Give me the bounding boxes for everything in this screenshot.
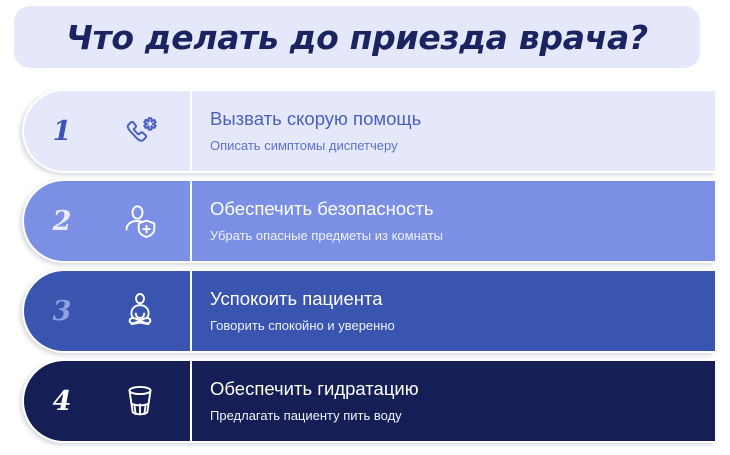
step-number: 1 <box>24 118 100 145</box>
steps-list: 1 Вызвать скорую помощь Описать симптомы… <box>0 84 730 455</box>
header-banner: Что делать до приезда врача? <box>14 6 700 68</box>
infographic-canvas: Что делать до приезда врача? 1 Вызвать с… <box>0 0 730 455</box>
step-left-panel: 4 <box>24 361 190 441</box>
step-row[interactable]: 3 Успокоить пациента Говорить спокойно и… <box>22 269 715 353</box>
step-text-panel: Вызвать скорую помощь Описать симптомы д… <box>192 91 715 171</box>
step-title: Успокоить пациента <box>210 288 699 309</box>
step-subtitle: Говорить спокойно и уверенно <box>210 319 699 334</box>
step-number: 2 <box>24 208 100 235</box>
step-text-panel: Обеспечить безопасность Убрать опасные п… <box>192 181 715 261</box>
step-title: Вызвать скорую помощь <box>210 108 699 129</box>
water-glass-icon <box>100 379 180 423</box>
step-row[interactable]: 4 Обеспечить гидратацию Предлагать пацие… <box>22 359 715 443</box>
person-shield-plus-icon <box>100 199 180 243</box>
page-title: Что делать до приезда врача? <box>66 18 648 57</box>
step-left-panel: 1 <box>24 91 190 171</box>
step-left-panel: 3 <box>24 271 190 351</box>
step-title: Обеспечить безопасность <box>210 198 699 219</box>
step-subtitle: Предлагать пациенту пить воду <box>210 409 699 424</box>
step-row[interactable]: 2 Обеспечить безопасность Убрать опасные… <box>22 179 715 263</box>
step-subtitle: Описать симптомы диспетчеру <box>210 139 699 154</box>
step-row[interactable]: 1 Вызвать скорую помощь Описать симптомы… <box>22 89 715 173</box>
step-number: 4 <box>24 388 100 415</box>
step-subtitle: Убрать опасные предметы из комнаты <box>210 229 699 244</box>
meditation-lotus-icon <box>100 289 180 333</box>
step-number: 3 <box>24 298 100 325</box>
step-text-panel: Обеспечить гидратацию Предлагать пациент… <box>192 361 715 441</box>
step-title: Обеспечить гидратацию <box>210 378 699 399</box>
step-text-panel: Успокоить пациента Говорить спокойно и у… <box>192 271 715 351</box>
phone-medical-cross-icon <box>100 109 180 153</box>
step-left-panel: 2 <box>24 181 190 261</box>
